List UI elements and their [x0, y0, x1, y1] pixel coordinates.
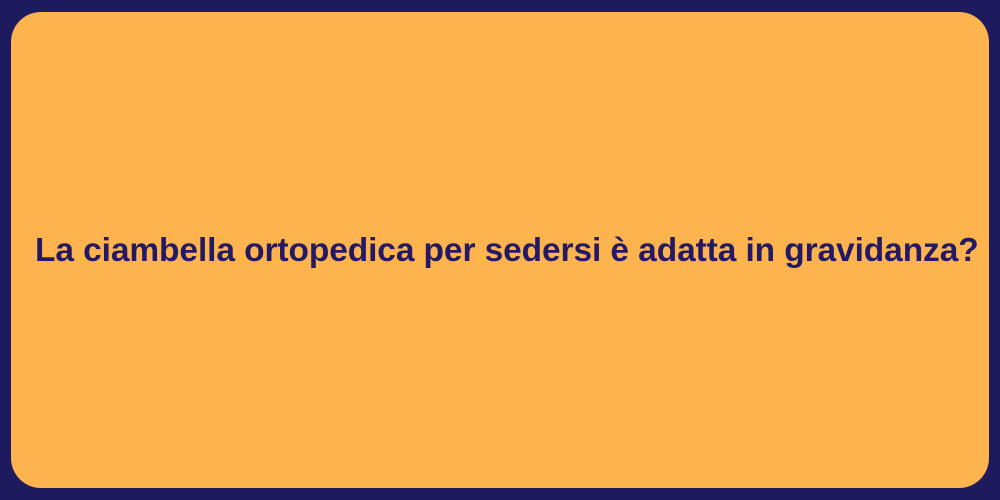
- card-background: La ciambella ortopedica per sedersi è ad…: [0, 0, 1000, 500]
- page-title: La ciambella ortopedica per sedersi è ad…: [11, 230, 989, 272]
- card-panel: La ciambella ortopedica per sedersi è ad…: [11, 12, 989, 488]
